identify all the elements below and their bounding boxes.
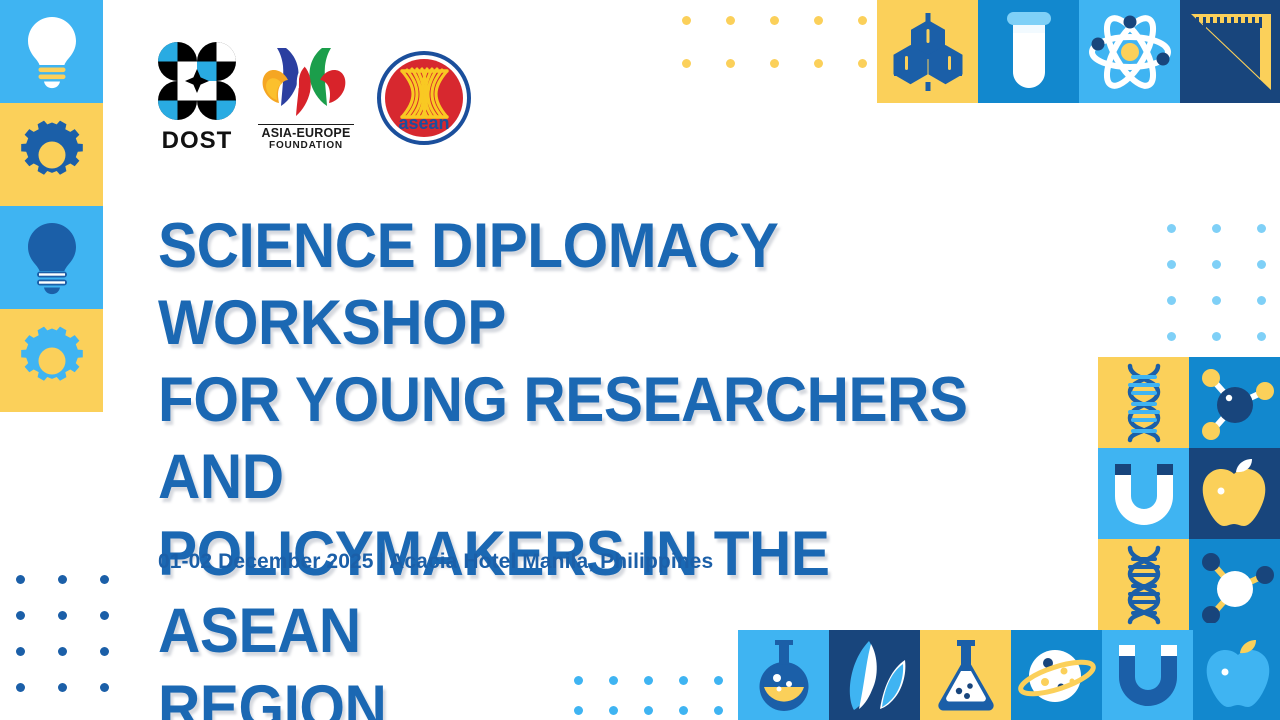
dot (1257, 260, 1266, 269)
tile-dna-2 (1098, 539, 1189, 630)
asean-logo-wordmark: asean (398, 113, 449, 133)
tile-magnet-2 (1102, 630, 1193, 720)
logo-row: DOST ASIA-EUROPE FOUNDATION (158, 42, 472, 150)
dot (1167, 296, 1176, 305)
tile-test-tube (978, 0, 1079, 103)
dot (16, 647, 25, 656)
dot (100, 575, 109, 584)
event-details: 01-02 December 2025|Acacia Hotel Manila,… (158, 550, 713, 574)
event-venue: Acacia Hotel Manila, Philippines (389, 550, 713, 573)
title-line-1: SCIENCE DIPLOMACY WORKSHOP (158, 208, 1004, 362)
aef-caption-line1: ASIA-EUROPE (258, 126, 354, 140)
dots-right-lightblue (1167, 224, 1280, 368)
poster-canvas: DOST ASIA-EUROPE FOUNDATION (0, 0, 1280, 720)
tile-apple-2 (1193, 630, 1280, 720)
dot (858, 16, 867, 25)
asean-logo: asean (376, 50, 472, 150)
dot (1167, 260, 1176, 269)
headline-block: SCIENCE DIPLOMACY WORKSHOP FOR YOUNG RES… (158, 208, 1068, 720)
dot (100, 647, 109, 656)
dot (770, 59, 779, 68)
detail-separator: | (374, 550, 390, 573)
dot (16, 611, 25, 620)
event-dates: 01-02 December 2025 (158, 550, 374, 573)
dot (58, 683, 67, 692)
dot (726, 59, 735, 68)
dot (682, 16, 691, 25)
dot (770, 16, 779, 25)
dot (1167, 224, 1176, 233)
dot (814, 16, 823, 25)
dot (100, 683, 109, 692)
tile-gear-navy (0, 103, 103, 206)
tile-atom (1079, 0, 1180, 103)
dot (1257, 224, 1266, 233)
right-tile-grid (1098, 357, 1280, 630)
dot (58, 647, 67, 656)
dot (16, 683, 25, 692)
page-title: SCIENCE DIPLOMACY WORKSHOP FOR YOUNG RES… (158, 208, 1004, 720)
dot (1212, 260, 1221, 269)
tile-magnet-1 (1098, 448, 1189, 539)
dot (1212, 332, 1221, 341)
dot (16, 575, 25, 584)
dot (58, 611, 67, 620)
dot (858, 59, 867, 68)
dot (1257, 332, 1266, 341)
title-line-4: REGION (158, 670, 1004, 720)
dot (100, 611, 109, 620)
tile-dna-1 (1098, 357, 1189, 448)
tile-lightbulb-navy (0, 206, 103, 309)
tile-gear-lightblue (0, 309, 103, 412)
dot (682, 59, 691, 68)
dots-bottomleft-navy (16, 575, 142, 719)
tile-molecule-1 (1189, 357, 1280, 448)
title-line-2: FOR YOUNG RESEARCHERS AND (158, 362, 1004, 516)
dot (1257, 296, 1266, 305)
aef-divider (258, 124, 354, 125)
sidebar-tile-strip (0, 0, 103, 412)
topright-tile-strip (877, 0, 1280, 103)
dot (814, 59, 823, 68)
asia-europe-foundation-logo: ASIA-EUROPE FOUNDATION (258, 44, 354, 150)
dots-top-yellow (682, 16, 902, 102)
dost-logo: DOST (158, 42, 236, 150)
dot (726, 16, 735, 25)
aef-caption-line2: FOUNDATION (258, 140, 354, 151)
title-line-3: POLICYMAKERS IN THE ASEAN (158, 516, 1004, 670)
tile-lightbulb-white (0, 0, 103, 103)
dot (1212, 296, 1221, 305)
dost-logo-caption: DOST (158, 127, 236, 155)
dot (1212, 224, 1221, 233)
dot (1167, 332, 1176, 341)
dot (58, 575, 67, 584)
tile-ruler-triangle (1180, 0, 1280, 103)
tile-molecule-2 (1189, 539, 1280, 630)
tile-apple-1 (1189, 448, 1280, 539)
